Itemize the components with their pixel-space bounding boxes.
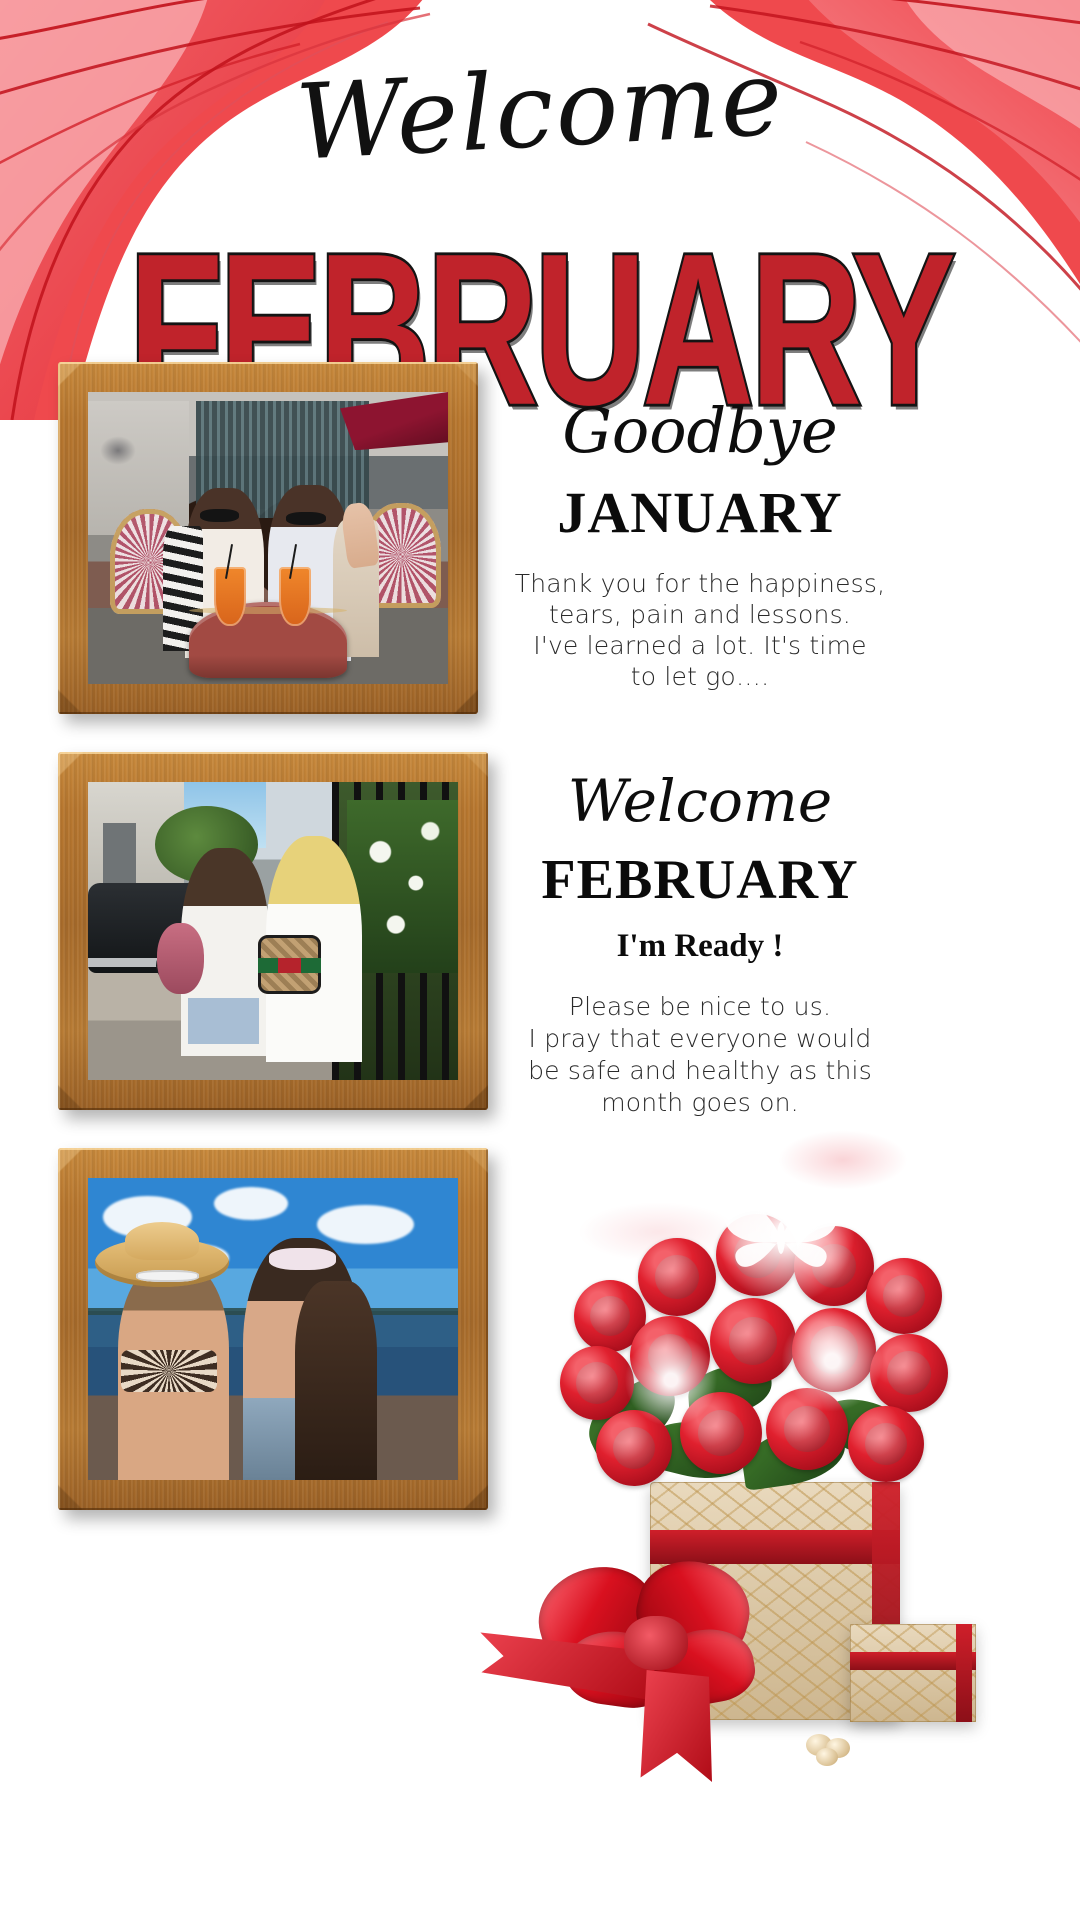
- photo1-drink-left: [214, 567, 246, 625]
- photo1-sunglasses-right: [286, 512, 326, 525]
- sparkle-glow: [696, 1170, 876, 1300]
- photo-mat-1: [88, 392, 448, 684]
- text-block-welcome-february: Welcome FEBRUARY I'm Ready ! Please be n…: [500, 772, 900, 1119]
- page-title-script: Welcome: [0, 30, 1080, 190]
- photo-frame-3[interactable]: [58, 1148, 488, 1510]
- red-rose: [574, 1280, 646, 1352]
- photo-mat-2: [88, 782, 458, 1080]
- rose-leaf: [576, 1370, 688, 1464]
- red-rose: [870, 1334, 948, 1412]
- red-rose: [560, 1346, 634, 1420]
- february-body-line: month goes on.: [500, 1087, 900, 1119]
- gift-box-large: [650, 1482, 900, 1720]
- photo3-long-hair: [295, 1281, 376, 1480]
- photo2-flowering-bush: [347, 800, 458, 973]
- gift-box-small: [850, 1624, 976, 1722]
- photo1-drink-right: [279, 567, 311, 625]
- red-rose: [638, 1238, 716, 1316]
- photo3-white-sunglasses: [136, 1270, 199, 1282]
- sparkle-glow: [578, 1202, 738, 1262]
- january-body-line: Thank you for the happiness,: [500, 568, 900, 599]
- photo3-cloud: [214, 1187, 288, 1220]
- january-body-line: to let go….: [500, 661, 900, 692]
- ribbon-bow-loop-left: [527, 1554, 667, 1679]
- february-subhead: I'm Ready !: [500, 930, 900, 963]
- ribbon-bow-knot: [624, 1616, 688, 1670]
- ribbon-bow-loop-right: [629, 1550, 760, 1666]
- photo2-woman-left: [181, 848, 270, 1057]
- text-block-goodbye-january: Goodbye JANUARY Thank you for the happin…: [500, 400, 900, 692]
- photo1-cafe-table: [189, 602, 347, 678]
- february-body-line: Please be nice to us.: [500, 991, 900, 1023]
- pearl-bead: [826, 1738, 850, 1758]
- red-rose: [680, 1392, 762, 1474]
- sparkle-glow: [772, 1306, 892, 1416]
- january-body-line: I've learned a lot. It's time: [500, 630, 900, 661]
- red-rose: [794, 1226, 874, 1306]
- sparkle-glow: [778, 1130, 908, 1190]
- photo3-cloud: [317, 1205, 413, 1244]
- photo-street-two-women: [88, 782, 458, 1080]
- photo2-woman-right: [266, 836, 362, 1062]
- rose-leaf: [813, 1384, 923, 1475]
- rose-leaf: [686, 1363, 773, 1417]
- welcome-script-line: Welcome: [500, 772, 900, 830]
- goodbye-script-line: Goodbye: [500, 400, 900, 462]
- gift-box-small-band: [850, 1652, 976, 1670]
- january-body: Thank you for the happiness, tears, pain…: [500, 568, 900, 692]
- january-body-line: tears, pain and lessons.: [500, 599, 900, 630]
- photo-frame-2[interactable]: [58, 752, 488, 1110]
- ribbon-bow-loop-lower-right: [648, 1622, 759, 1712]
- roses-gift-ornament: [520, 1130, 1080, 1920]
- ribbon-bow-loop-lower-left: [561, 1625, 674, 1713]
- poster-canvas: Welcome FEBRUARY: [0, 0, 1080, 1920]
- photo-cafe-two-women: [88, 392, 448, 684]
- red-rose: [716, 1214, 798, 1296]
- red-rose: [596, 1410, 672, 1486]
- rose-leaf: [641, 1410, 755, 1489]
- ribbon-tail-bottom: [636, 1670, 712, 1782]
- butterfly-icon: [716, 1186, 846, 1282]
- photo-boat-two-women: [88, 1178, 458, 1480]
- photo-frame-1[interactable]: [58, 362, 478, 714]
- photo3-swimsuit: [121, 1350, 217, 1392]
- february-headline: FEBRUARY: [500, 852, 900, 908]
- february-body: Please be nice to us. I pray that everyo…: [500, 991, 900, 1119]
- gift-box-small-band-v: [956, 1624, 972, 1722]
- february-body-line: be safe and healthy as this: [500, 1055, 900, 1087]
- red-rose: [866, 1258, 942, 1334]
- photo-mat-3: [88, 1178, 458, 1480]
- red-rose: [766, 1388, 848, 1470]
- february-body-line: I pray that everyone would: [500, 1023, 900, 1055]
- gift-box-band-vertical: [872, 1482, 900, 1720]
- red-rose: [710, 1298, 796, 1384]
- gift-box-band-horizontal: [650, 1530, 900, 1564]
- red-rose: [630, 1316, 710, 1396]
- red-rose: [792, 1308, 876, 1392]
- sparkle-glow: [616, 1330, 726, 1430]
- ribbon-tail-left: [471, 1610, 657, 1713]
- january-headline: JANUARY: [500, 484, 900, 542]
- photo1-sunglasses-left: [200, 509, 240, 522]
- pearl-bead: [806, 1734, 832, 1756]
- red-rose: [848, 1406, 924, 1482]
- rose-leaf: [739, 1423, 850, 1491]
- pearl-bead: [816, 1748, 838, 1766]
